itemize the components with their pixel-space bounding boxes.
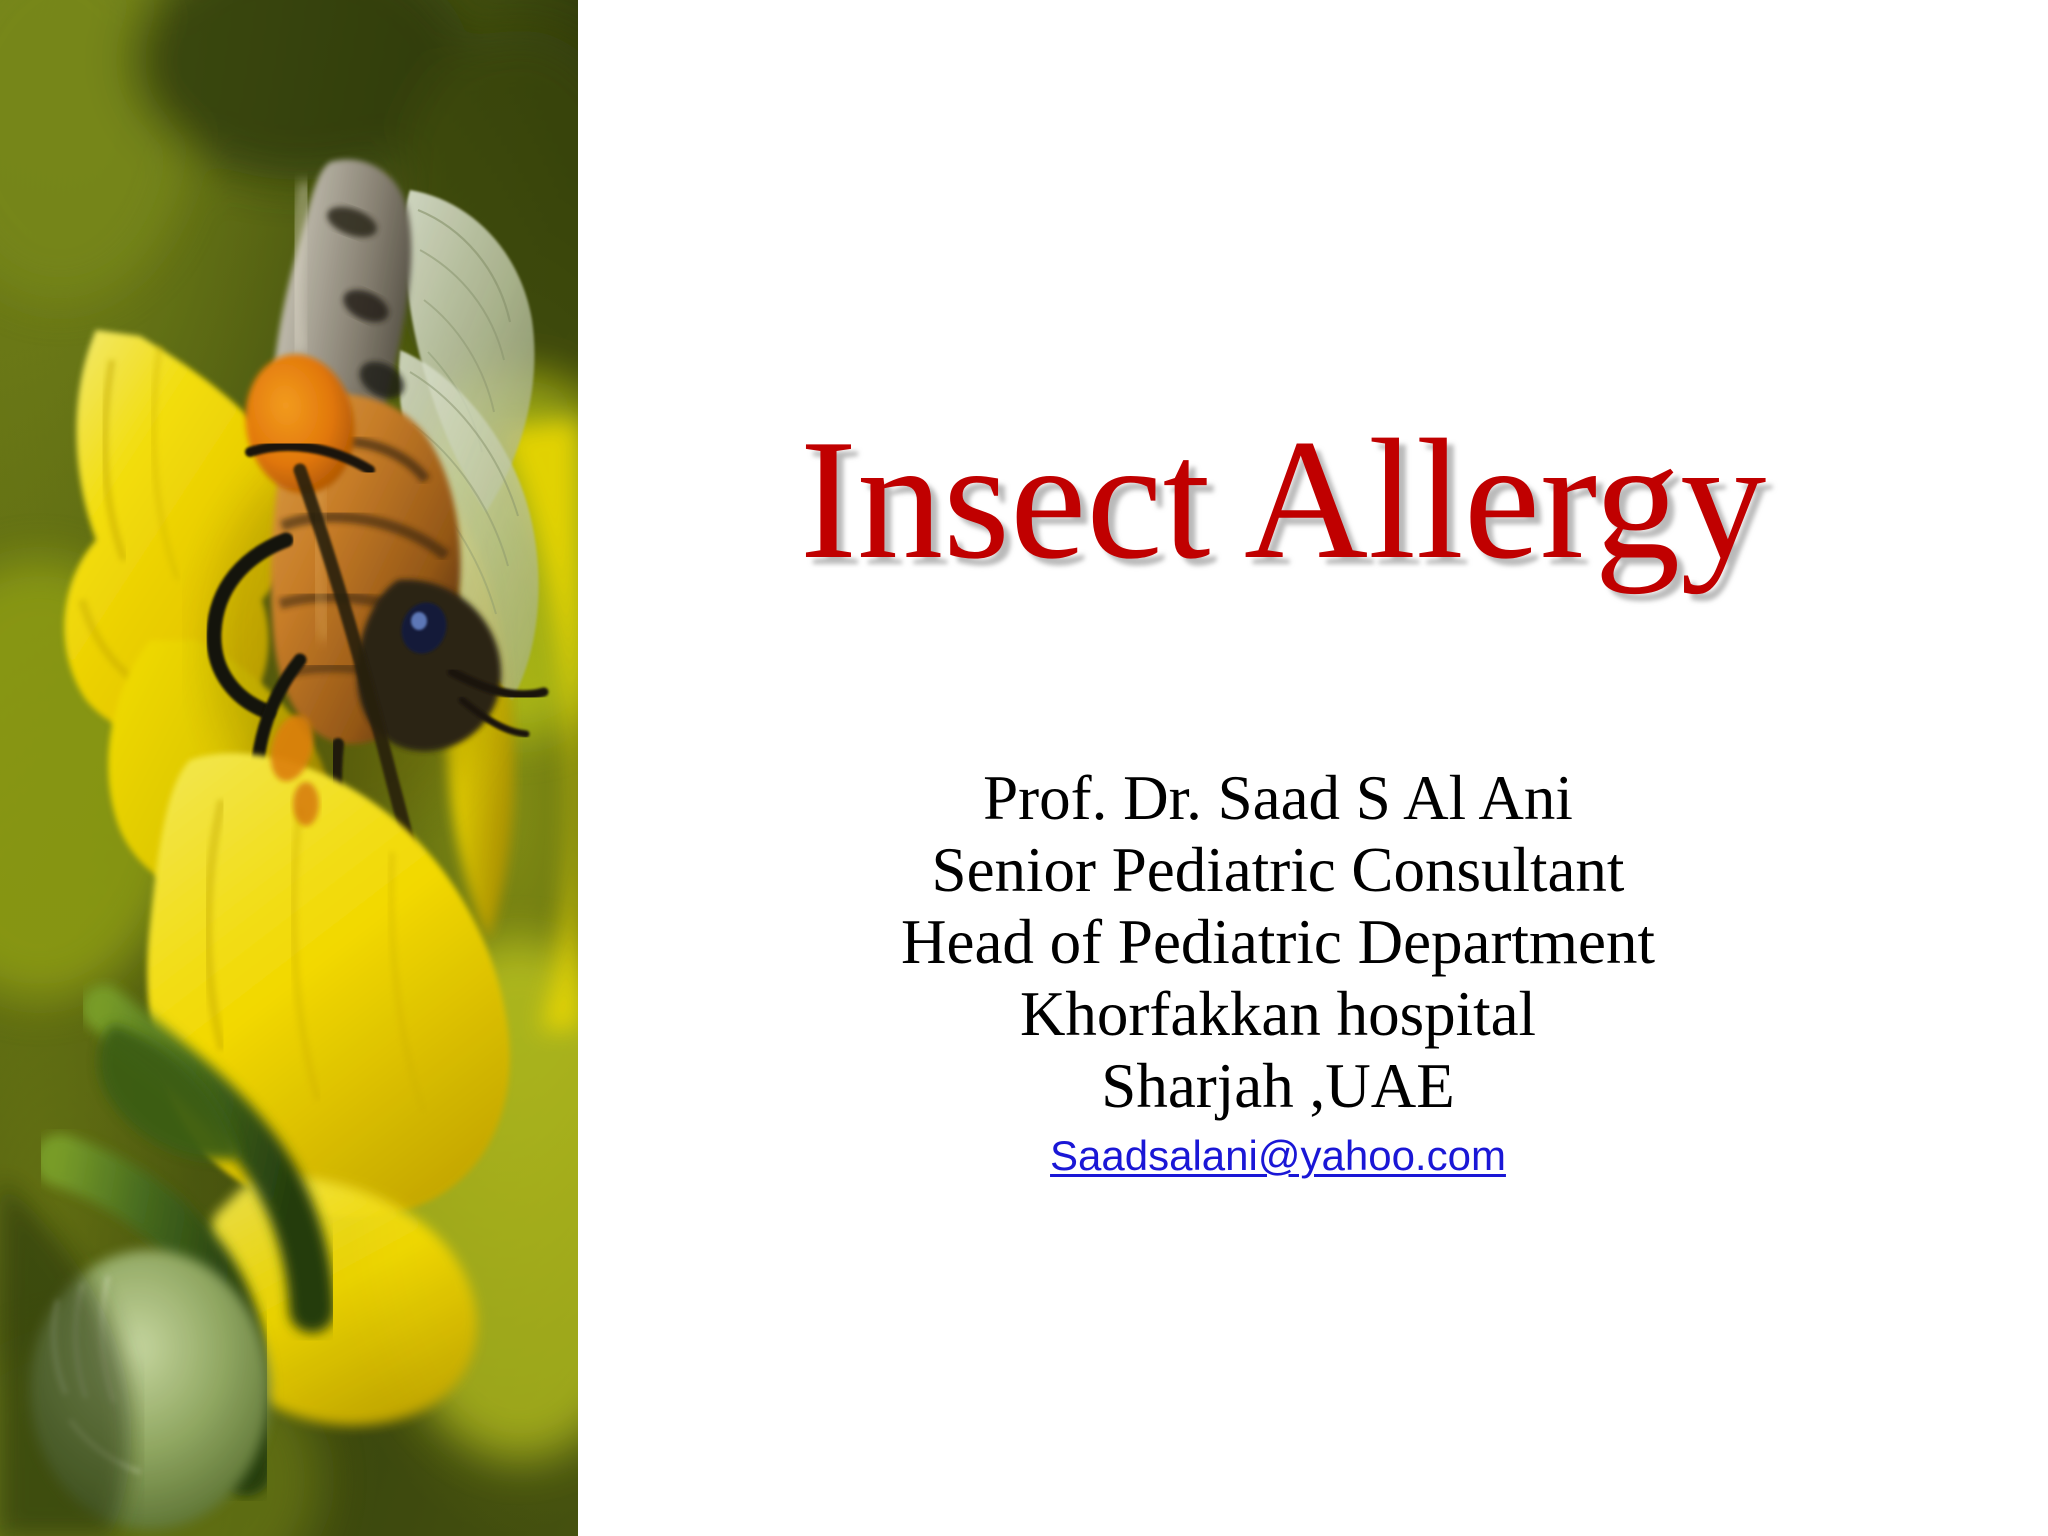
- email-row: Saadsalani@yahoo.com: [578, 1132, 1978, 1190]
- author-position: Head of Pediatric Department: [578, 906, 1978, 978]
- honeybee-on-flower-image: [0, 0, 578, 1536]
- presentation-slide: Insect Allergy Prof. Dr. Saad S Al Ani S…: [0, 0, 2048, 1536]
- slide-text-panel: Insect Allergy Prof. Dr. Saad S Al Ani S…: [578, 0, 2048, 1536]
- email-link[interactable]: Saadsalani@yahoo.com: [1050, 1132, 1506, 1179]
- photo-illustration: [0, 0, 578, 1536]
- author-block: Prof. Dr. Saad S Al Ani Senior Pediatric…: [578, 762, 1978, 1190]
- page-title: Insect Allergy: [578, 414, 1988, 586]
- author-location: Sharjah ,UAE: [578, 1050, 1978, 1122]
- author-hospital: Khorfakkan hospital: [578, 978, 1978, 1050]
- author-role: Senior Pediatric Consultant: [578, 834, 1978, 906]
- author-name: Prof. Dr. Saad S Al Ani: [578, 762, 1978, 834]
